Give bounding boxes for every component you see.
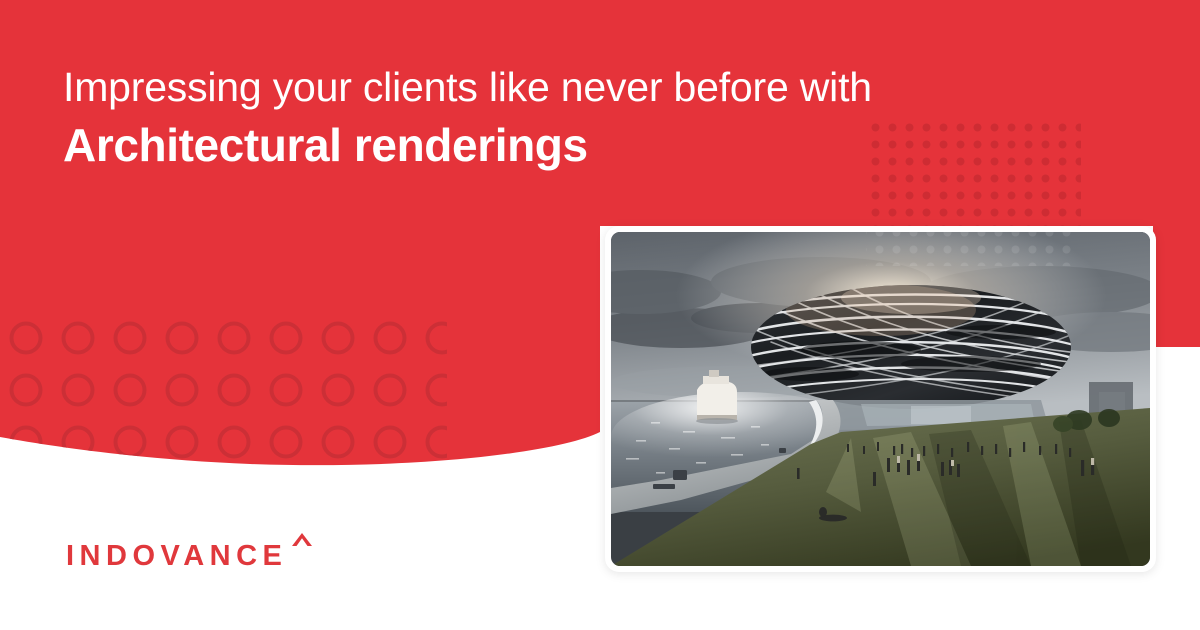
logo-wordmark: INDOVANCE	[66, 542, 287, 571]
caret-up-icon	[289, 529, 315, 551]
headline-line-1: Impressing your clients like never befor…	[63, 62, 1043, 113]
indovance-logo[interactable]: INDOVANCE	[66, 527, 315, 571]
photo-frame	[611, 232, 1150, 566]
headline-block: Impressing your clients like never befor…	[63, 62, 1043, 173]
marketing-banner: Impressing your clients like never befor…	[0, 0, 1200, 630]
architectural-rendering-photo-card	[605, 226, 1156, 572]
architectural-rendering-image	[611, 232, 1150, 566]
headline-line-2: Architectural renderings	[63, 117, 1043, 173]
